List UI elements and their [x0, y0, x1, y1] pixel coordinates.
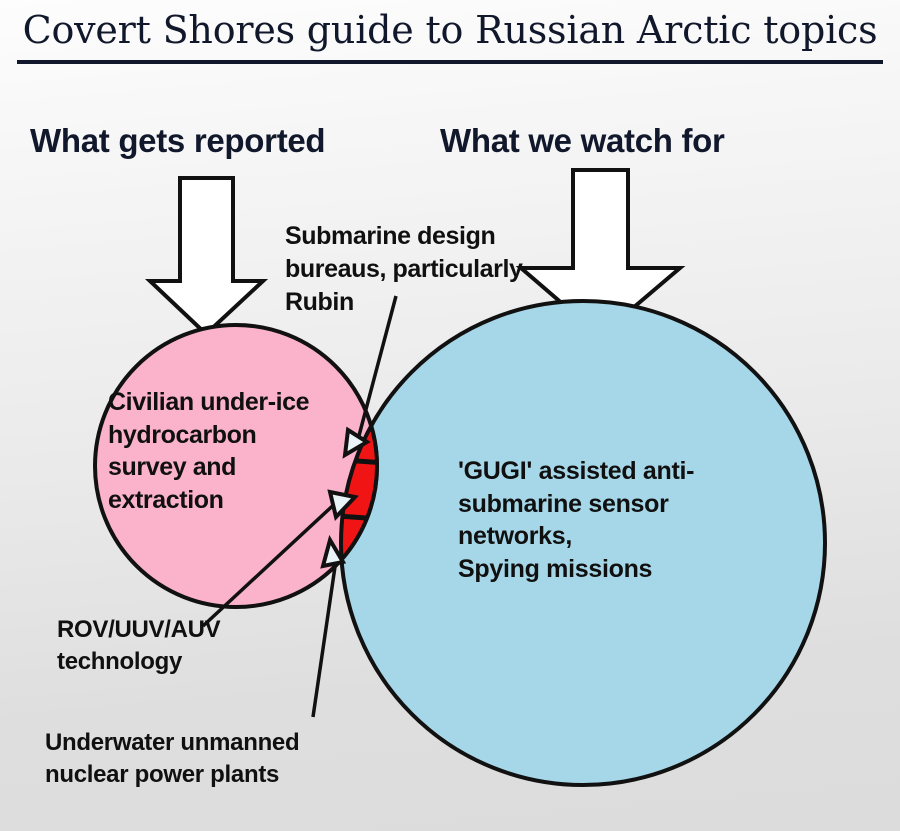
callout-label-submarine-design: Submarine design bureaus, particularly R… — [285, 220, 585, 319]
callout-label-nuclear-power: Underwater unmanned nuclear power plants — [45, 727, 405, 790]
venn-left-circle-label: Civilian under-ice hydrocarbon survey an… — [108, 386, 358, 516]
callout-label-rov-uuv-auv: ROV/UUV/AUV technology — [57, 614, 347, 677]
slide-canvas: Covert Shores guide to Russian Arctic to… — [0, 0, 900, 831]
down-arrow-icon-left — [150, 178, 263, 334]
venn-right-circle-label: 'GUGI' assisted anti- submarine sensor n… — [458, 455, 758, 585]
